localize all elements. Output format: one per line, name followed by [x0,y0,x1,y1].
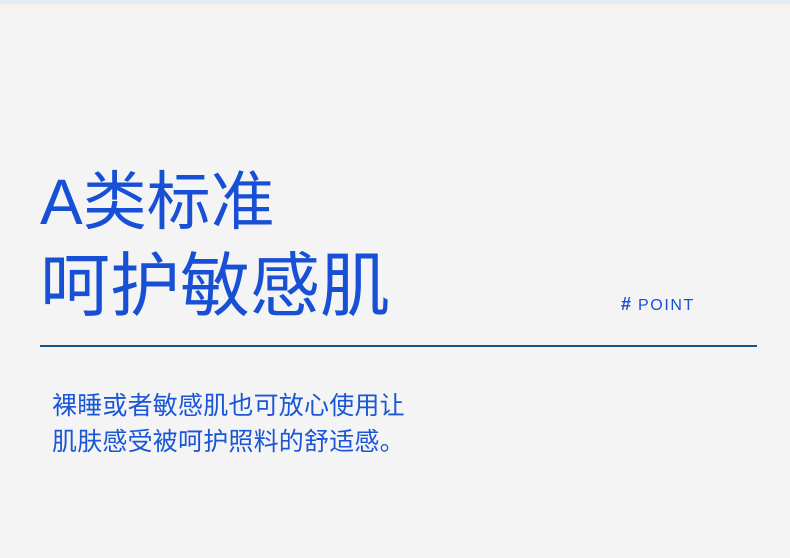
horizontal-divider [40,345,757,347]
point-tag-label: POINT [638,296,695,316]
hash-icon: # [621,294,631,314]
top-accent-band-pink [0,4,790,7]
point-tag: # POINT [621,294,695,316]
body-copy-line-2: 肌肤感受被呵护照料的舒适感。 [52,424,672,460]
feature-banner: A类标准 呵护敏感肌 # POINT 裸睡或者敏感肌也可放心使用让 肌肤感受被呵… [0,0,790,558]
body-copy-line-1: 裸睡或者敏感肌也可放心使用让 [52,388,672,424]
headline-line-1: A类标准 [40,160,600,244]
headline-block: A类标准 呵护敏感肌 [40,160,600,328]
headline-line-2: 呵护敏感肌 [40,244,600,328]
body-copy-block: 裸睡或者敏感肌也可放心使用让 肌肤感受被呵护照料的舒适感。 [52,388,672,460]
